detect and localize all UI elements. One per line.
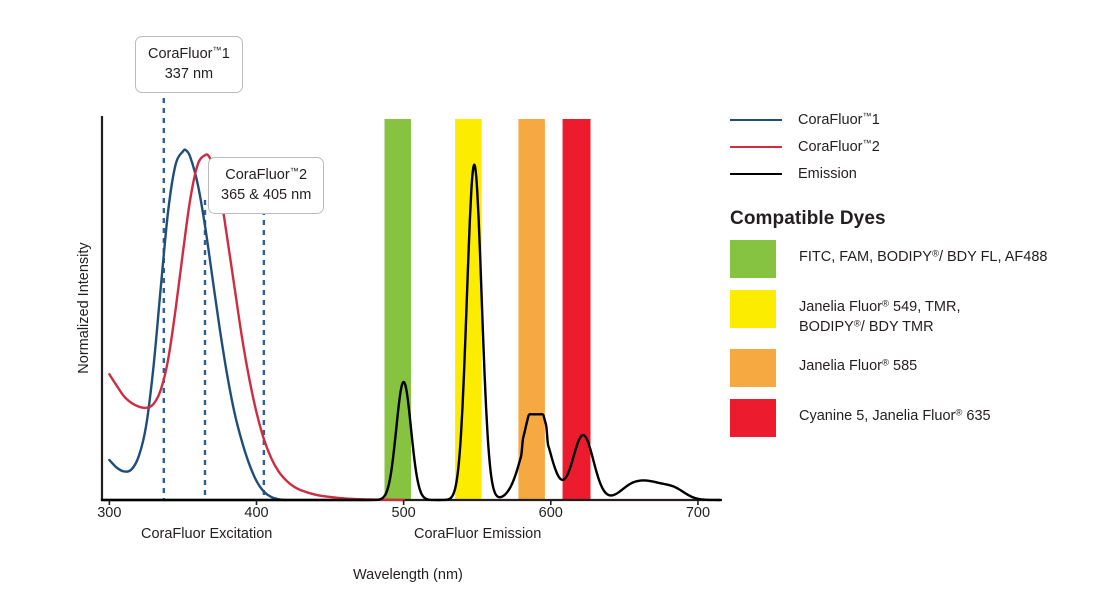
legend-label: CoraFluor™2	[798, 138, 880, 155]
legend-item: Emission	[730, 160, 1102, 187]
callout-1-line1: CoraFluor™1	[148, 44, 230, 65]
x-tick-label-700: 700	[686, 505, 710, 521]
x-tick-label-300: 300	[97, 505, 121, 521]
x-tick-label-400: 400	[244, 505, 268, 521]
legend-swatch-line	[730, 146, 782, 148]
y-axis-title: Normalized Intensity	[76, 218, 92, 398]
legend-label: CoraFluor™1	[798, 111, 880, 128]
compatible-dyes-title: Compatible Dyes	[730, 208, 1102, 230]
legend-swatch-line	[730, 119, 782, 121]
yellow-band	[455, 119, 481, 500]
legend-label: Emission	[798, 165, 857, 182]
dye-color-swatch	[730, 399, 776, 437]
callout-corafluor1: CoraFluor™1 337 nm	[135, 36, 243, 93]
dye-item: Cyanine 5, Janelia Fluor® 635	[730, 399, 1102, 437]
dye-label: Cyanine 5, Janelia Fluor® 635	[799, 399, 991, 427]
x-tick-label-600: 600	[539, 505, 563, 521]
callout-2-line1: CoraFluor™2	[221, 165, 311, 186]
compatible-dyes-list: FITC, FAM, BODIPY®/ BDY FL, AF488 Janeli…	[730, 240, 1102, 437]
callout-corafluor2: CoraFluor™2 365 & 405 nm	[208, 157, 324, 214]
legend-item: CoraFluor™1	[730, 106, 1102, 133]
x-tick-label-500: 500	[392, 505, 416, 521]
legend-swatch-line	[730, 173, 782, 175]
dye-item: FITC, FAM, BODIPY®/ BDY FL, AF488	[730, 240, 1102, 278]
callout-1-line2: 337 nm	[148, 65, 230, 85]
dye-color-swatch	[730, 290, 776, 328]
legend-panel: CoraFluor™1 CoraFluor™2 Emission Compati…	[730, 106, 1102, 449]
dye-item: Janelia Fluor® 585	[730, 349, 1102, 387]
x-axis-title: Wavelength (nm)	[353, 567, 463, 583]
green-band	[385, 119, 411, 500]
excitation-section-label: CoraFluor Excitation	[141, 526, 272, 542]
emission-section-label: CoraFluor Emission	[414, 526, 541, 542]
legend-item: CoraFluor™2	[730, 133, 1102, 160]
dye-color-swatch	[730, 240, 776, 278]
dye-label: FITC, FAM, BODIPY®/ BDY FL, AF488	[799, 240, 1047, 268]
dye-label: Janelia Fluor® 585	[799, 349, 917, 377]
callout-2-line2: 365 & 405 nm	[221, 186, 311, 206]
dye-label: Janelia Fluor® 549, TMR, BODIPY®/ BDY TM…	[799, 290, 960, 337]
chart-figure: CoraFluor™1 337 nm CoraFluor™2 365 & 405…	[0, 0, 1110, 612]
dye-item: Janelia Fluor® 549, TMR, BODIPY®/ BDY TM…	[730, 290, 1102, 337]
series-legend: CoraFluor™1 CoraFluor™2 Emission	[730, 106, 1102, 187]
dye-color-swatch	[730, 349, 776, 387]
